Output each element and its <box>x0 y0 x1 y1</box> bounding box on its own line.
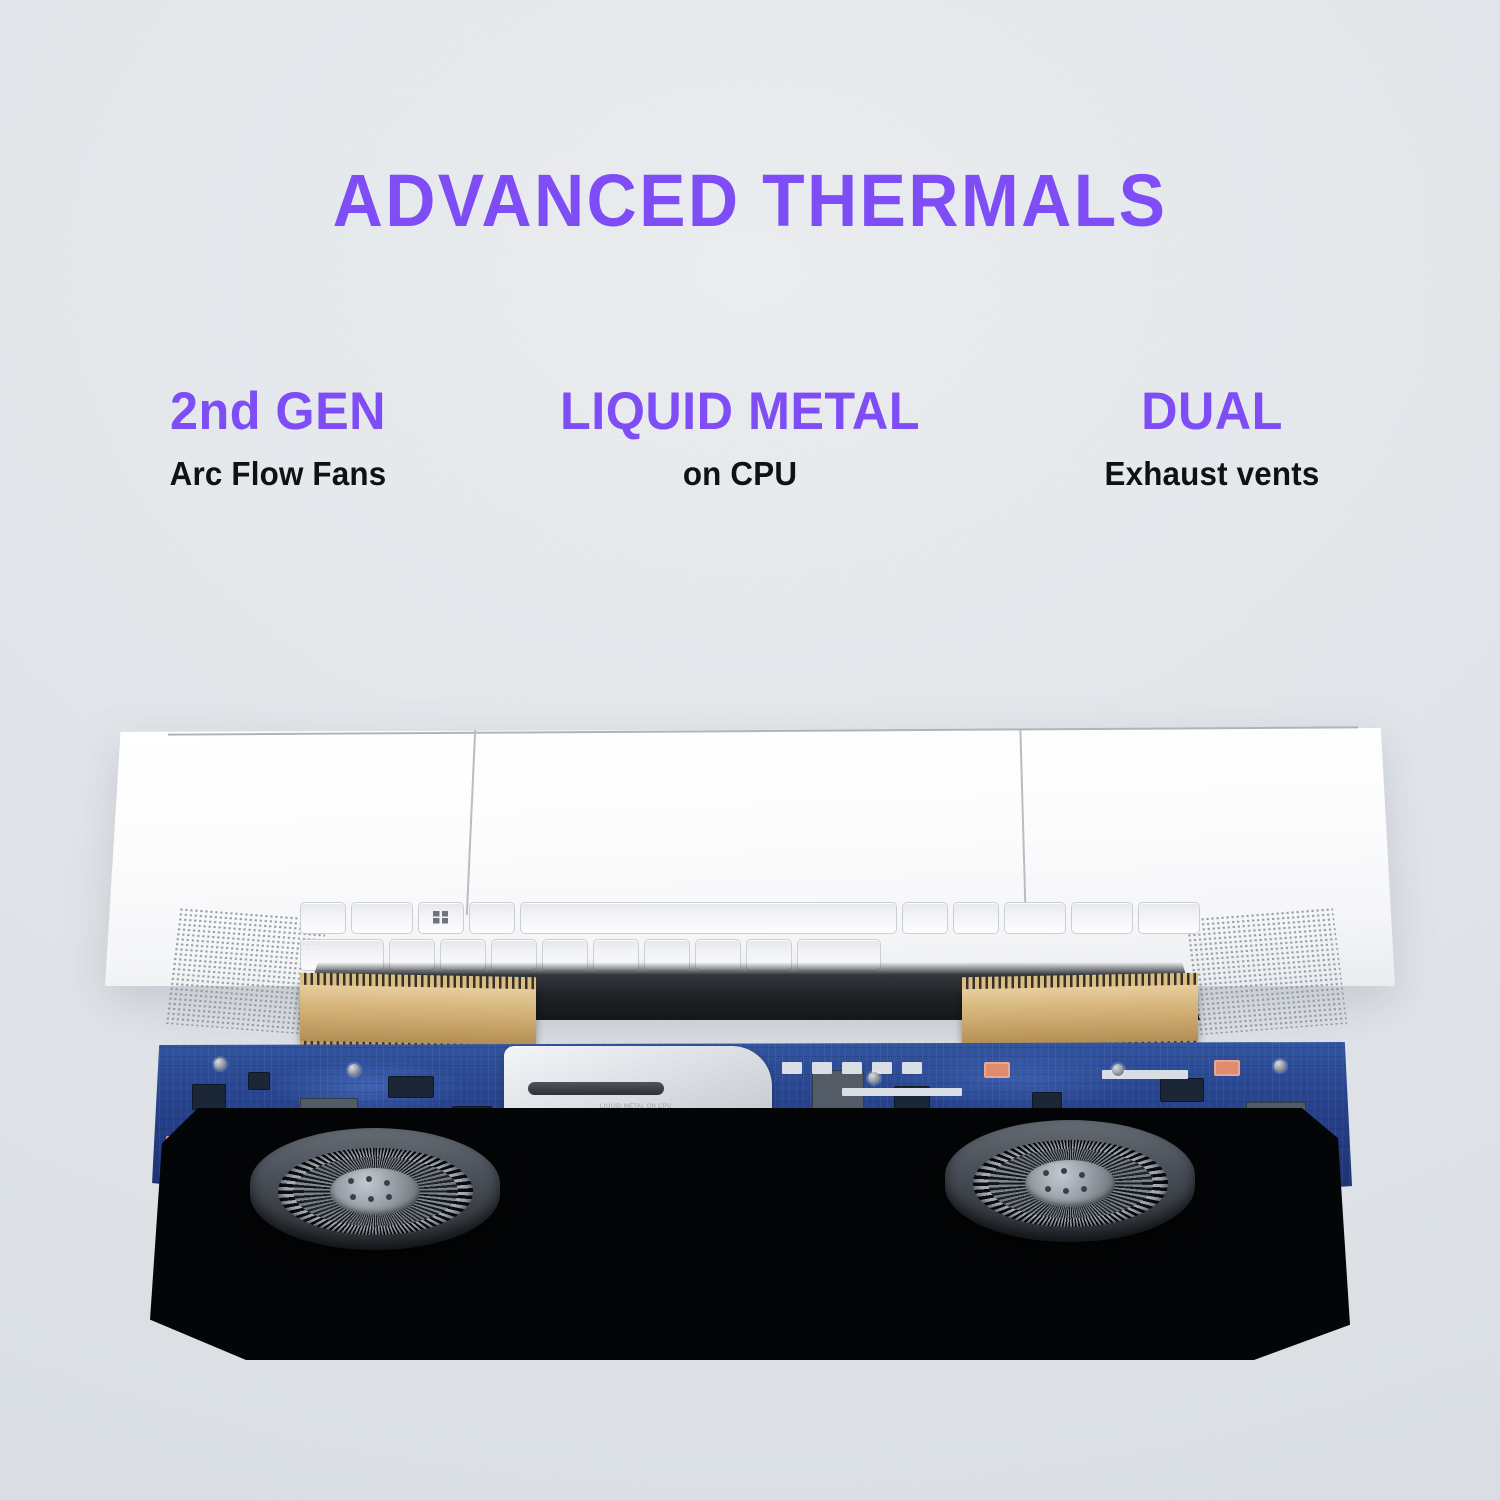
key-windows[interactable] <box>418 902 464 934</box>
feature-item-liquid-metal: LIQUID METAL on CPU <box>480 385 1000 493</box>
key-end[interactable] <box>1138 902 1200 934</box>
feature-item-arc-flow-fans: 2nd GEN Arc Flow Fans <box>78 385 478 493</box>
product-exploded-view: LIQUID METAL ON CPU <box>0 690 1500 1500</box>
key-generic[interactable] <box>351 902 413 934</box>
heatsink-fin-stack-right <box>962 984 1198 1047</box>
cpu-shield-slot <box>528 1082 664 1095</box>
key-pageup[interactable] <box>1071 902 1133 934</box>
feature-headline: DUAL <box>1013 385 1412 438</box>
windows-icon <box>434 912 449 925</box>
feature-headline: 2nd GEN <box>88 385 468 438</box>
key-generic[interactable] <box>902 902 948 934</box>
pcb-capacitor <box>902 1062 922 1074</box>
feature-item-exhaust-vents: DUAL Exhaust vents <box>1002 385 1422 493</box>
key-generic[interactable] <box>300 902 346 934</box>
pcb-chip <box>388 1076 434 1098</box>
pcb-screw <box>868 1072 880 1084</box>
key-generic[interactable] <box>953 902 999 934</box>
speaker-grille-right <box>1185 907 1347 1035</box>
pcb-chip <box>192 1084 226 1110</box>
pcb-mount-pad <box>1214 1060 1240 1076</box>
key-home[interactable] <box>1004 902 1066 934</box>
pcb-screw <box>214 1058 226 1070</box>
keyboard-deck-layer <box>0 690 1500 1050</box>
pcb-capacitor <box>812 1062 832 1074</box>
fan-hub <box>330 1168 420 1214</box>
pcb-capacitor <box>842 1062 862 1074</box>
pcb-chip <box>1160 1078 1204 1102</box>
pcb-screw <box>1274 1060 1286 1072</box>
feature-subline: Arc Flow Fans <box>88 455 468 493</box>
pcb-screw <box>348 1064 360 1076</box>
pcb-chip <box>248 1072 270 1090</box>
feature-row: 2nd GEN Arc Flow Fans LIQUID METAL on CP… <box>0 385 1500 493</box>
feature-subline: on CPU <box>493 455 987 493</box>
pcb-connector <box>842 1088 962 1096</box>
arc-flow-fan-left <box>250 1128 500 1250</box>
feature-subline: Exhaust vents <box>1013 455 1412 493</box>
pcb-mount-pad <box>984 1062 1010 1078</box>
pcb-capacitor <box>782 1062 802 1074</box>
key-spacebar[interactable] <box>520 902 897 934</box>
keyboard-row-top <box>300 902 1200 934</box>
arc-flow-fan-right <box>945 1120 1195 1242</box>
key-generic[interactable] <box>469 902 515 934</box>
pcb-screw <box>1112 1064 1124 1076</box>
heatsink-fin-stack-left <box>300 984 536 1047</box>
page-title: ADVANCED THERMALS <box>45 158 1455 243</box>
feature-headline: LIQUID METAL <box>493 385 987 438</box>
fan-hub <box>1025 1160 1115 1206</box>
